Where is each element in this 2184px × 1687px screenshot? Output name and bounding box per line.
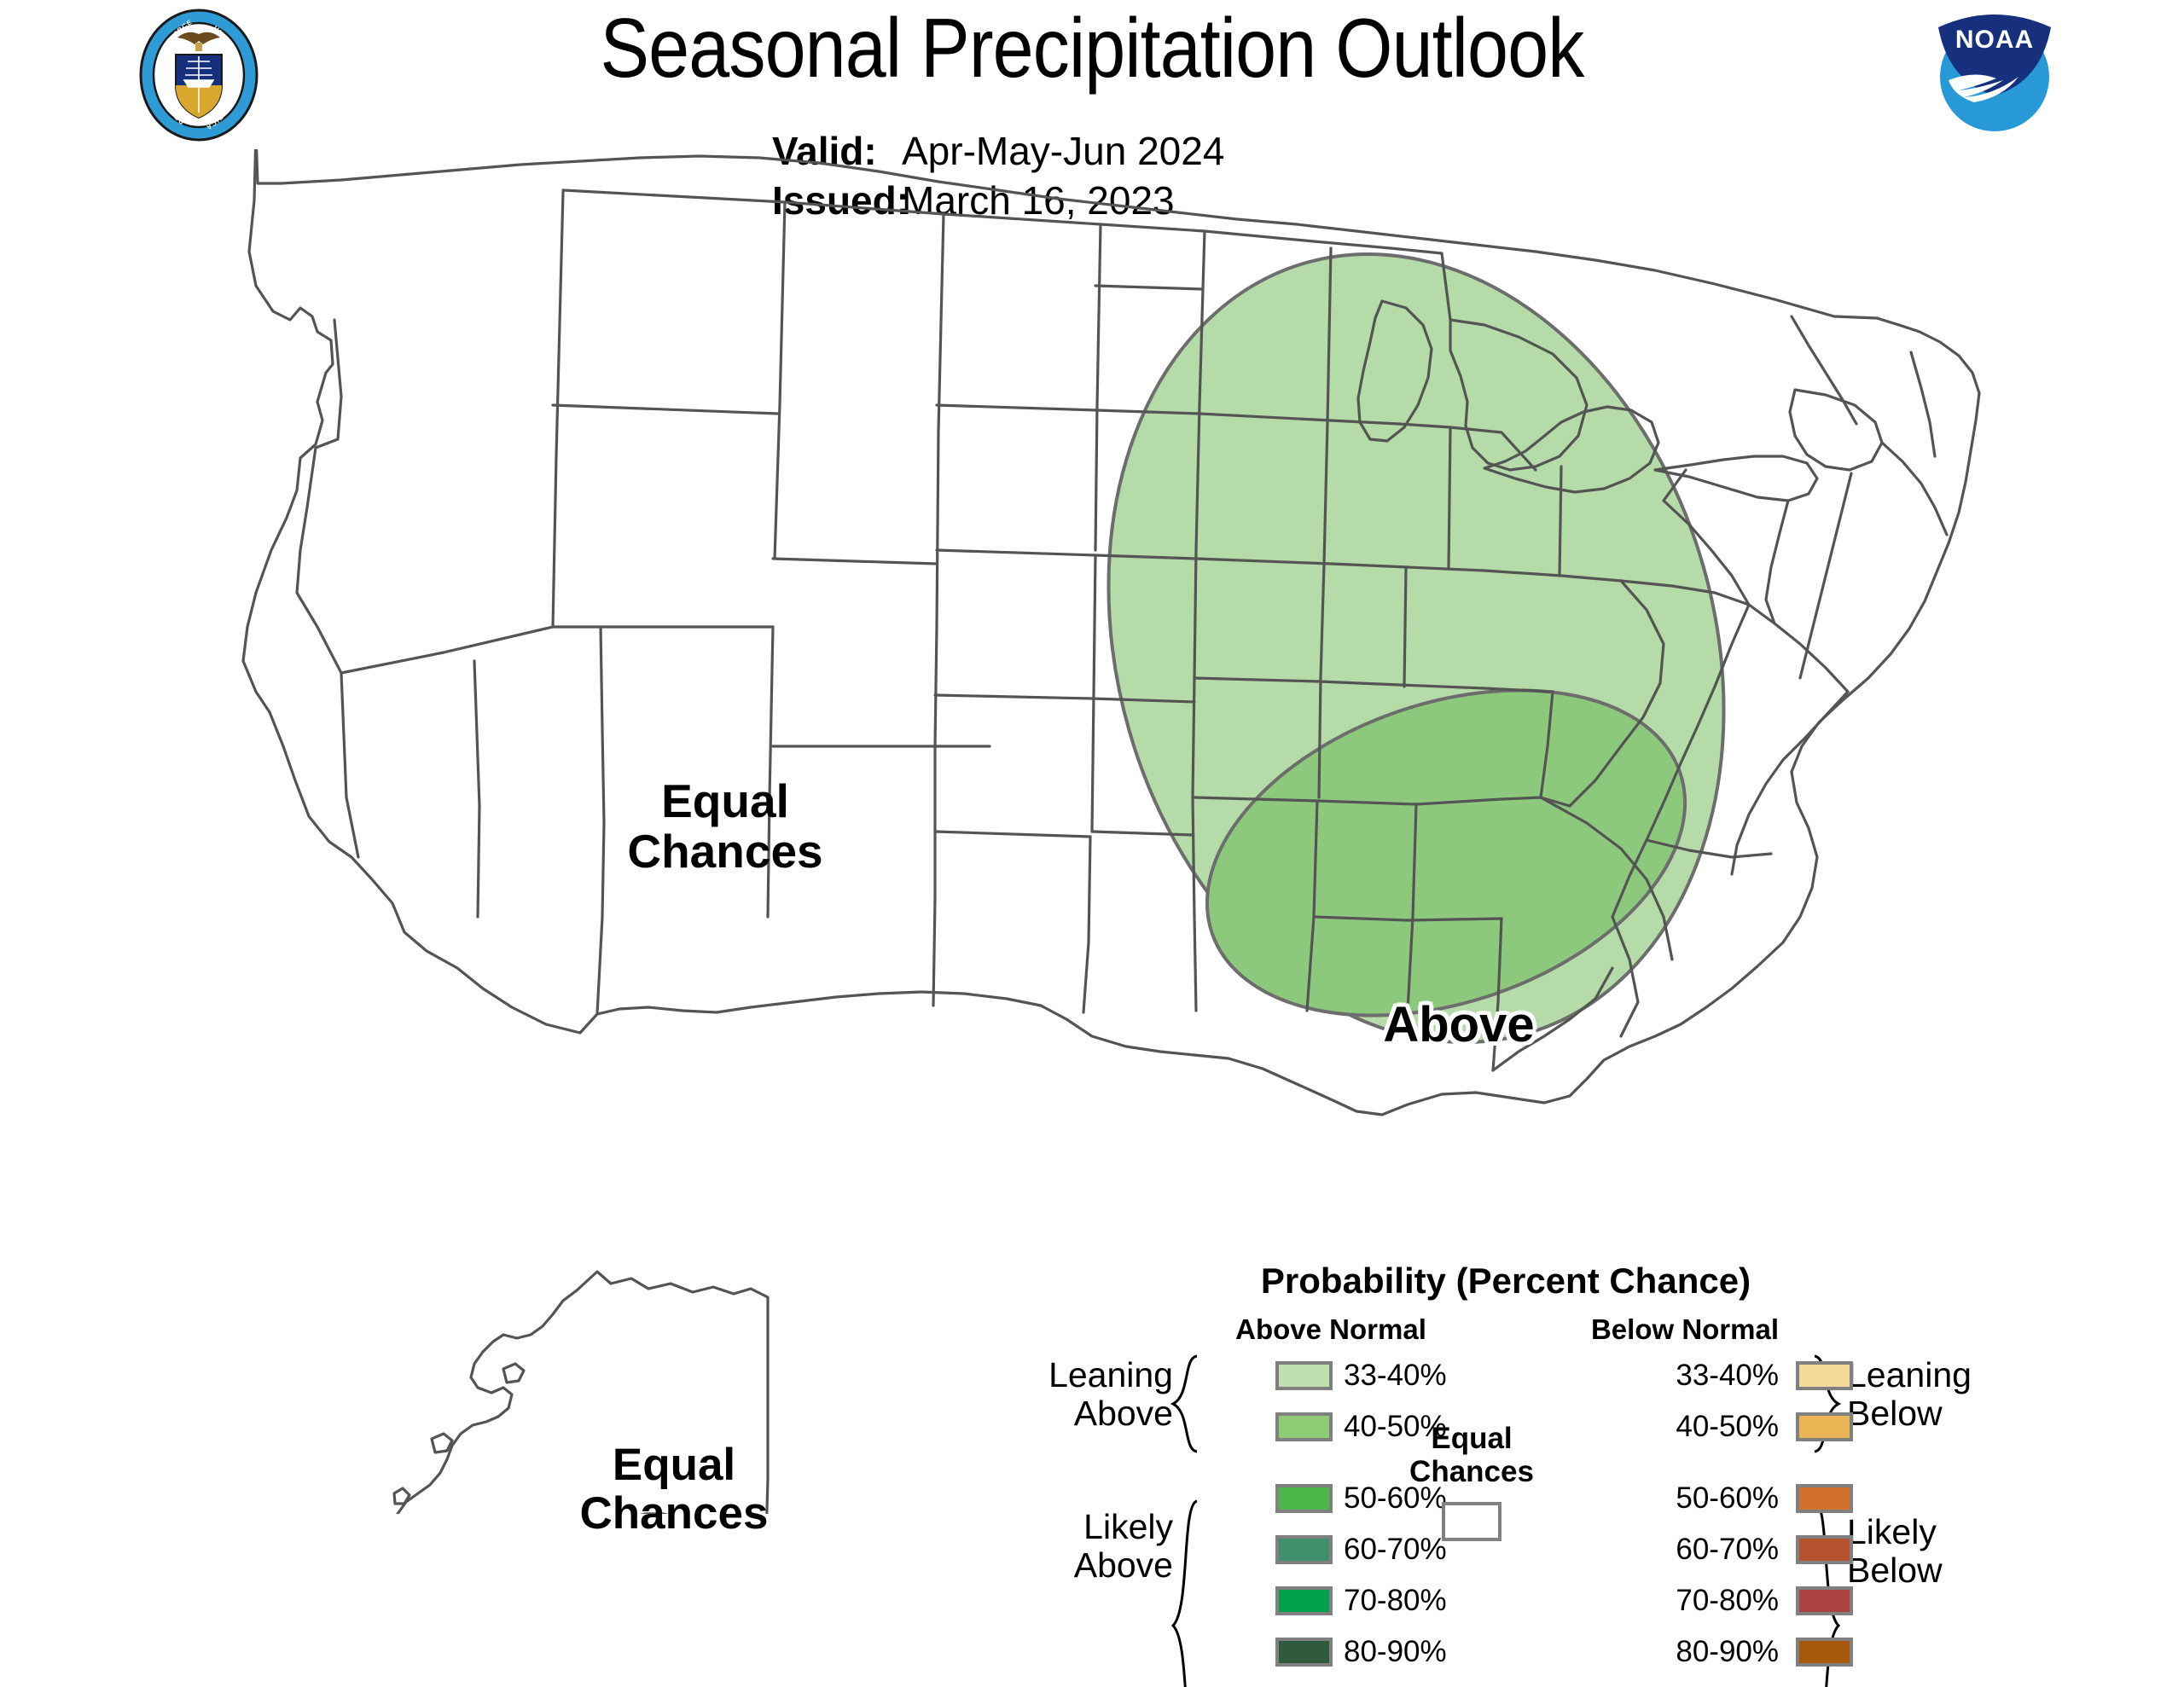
legend-leaning-above-label: Leaning Above: [994, 1356, 1173, 1433]
legend-swatch-below-33-40%: [1796, 1361, 1853, 1390]
legend-equal-chances-label: Equal Chances: [1391, 1423, 1553, 1488]
map-label-equal-chances-alaska: Equal Chances: [512, 1441, 836, 1538]
legend-pct-above-80-90%: 80-90%: [1344, 1638, 1497, 1667]
seasonal-precipitation-outlook-page: DEPARTMENT OF COMMERCE UNITED STATES OF …: [0, 0, 2184, 1687]
legend-swatch-above-60-70%: [1275, 1535, 1333, 1564]
legend-pct-above-33-40%: 33-40%: [1344, 1361, 1497, 1390]
legend-pct-above-70-80%: 70-80%: [1344, 1586, 1497, 1615]
legend-pct-below-70-80%: 70-80%: [1625, 1586, 1779, 1615]
legend-equal-chances-swatch: [1442, 1502, 1501, 1541]
legend-swatch-below-70-80%: [1796, 1586, 1853, 1615]
legend-swatch-above-33-40%: [1275, 1361, 1333, 1390]
page-title: Seasonal Precipitation Outlook: [131, 3, 2053, 92]
legend-swatch-below-60-70%: [1796, 1535, 1853, 1564]
legend-swatch-below-40-50%: [1796, 1412, 1853, 1441]
legend-below-normal-header: Below Normal: [1548, 1313, 1821, 1346]
legend-above-normal-header: Above Normal: [1194, 1313, 1467, 1346]
legend-pct-below-80-90%: 80-90%: [1625, 1638, 1779, 1667]
outlook-shading: [1019, 181, 1814, 1116]
leaning-above-brace-icon: [1168, 1353, 1202, 1455]
map-label-above: Above: [1331, 999, 1587, 1052]
probability-legend: Probability (Percent Chance) Above Norma…: [1147, 1261, 2184, 1687]
legend-swatch-above-80-90%: [1275, 1638, 1333, 1667]
legend-swatch-above-40-50%: [1275, 1412, 1333, 1441]
legend-swatch-below-50-60%: [1796, 1484, 1853, 1513]
legend-likely-below-label: Likely Below: [1847, 1513, 2052, 1590]
legend-swatch-below-80-90%: [1796, 1638, 1853, 1667]
legend-swatch-above-70-80%: [1275, 1586, 1333, 1615]
legend-pct-below-33-40%: 33-40%: [1625, 1361, 1779, 1390]
legend-swatch-above-50-60%: [1275, 1484, 1333, 1513]
map-label-equal-chances-west: Equal Chances: [563, 776, 887, 877]
legend-pct-below-40-50%: 40-50%: [1625, 1412, 1779, 1441]
legend-leaning-below-label: Leaning Below: [1847, 1356, 2052, 1433]
legend-title: Probability (Percent Chance): [1199, 1261, 1813, 1301]
likely-above-brace-icon: [1168, 1498, 1202, 1687]
legend-pct-below-60-70%: 60-70%: [1625, 1535, 1779, 1564]
legend-pct-below-50-60%: 50-60%: [1625, 1484, 1779, 1513]
legend-likely-above-label: Likely Above: [994, 1508, 1173, 1585]
